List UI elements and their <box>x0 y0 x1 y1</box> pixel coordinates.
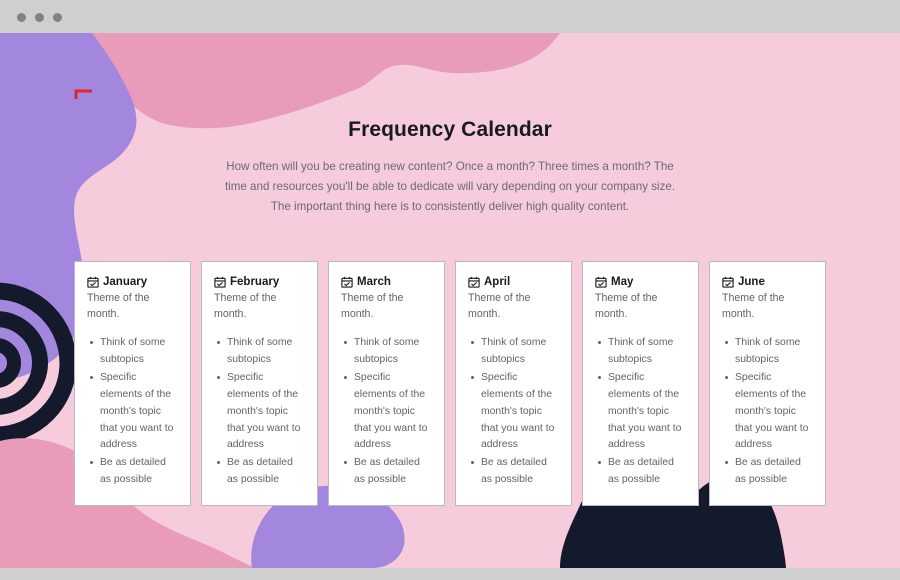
month-card-january[interactable]: January Theme of the month. Think of som… <box>74 261 191 506</box>
list-item: Think of some subtopics <box>468 335 559 369</box>
month-card-february[interactable]: February Theme of the month. Think of so… <box>201 261 318 506</box>
minimize-window-button[interactable] <box>35 13 44 22</box>
card-theme-text: Theme of the month. <box>722 291 813 322</box>
month-card-april[interactable]: April Theme of the month. Think of some … <box>455 261 572 506</box>
card-header: January <box>87 276 178 288</box>
month-card-june[interactable]: June Theme of the month. Think of some s… <box>709 261 826 506</box>
calendar-check-icon <box>214 276 226 288</box>
calendar-check-icon <box>468 276 480 288</box>
list-item: Specific elements of the month's topic t… <box>341 370 432 454</box>
card-bullet-list: Think of some subtopics Specific element… <box>341 335 432 489</box>
card-header: May <box>595 276 686 288</box>
list-item: Think of some subtopics <box>341 335 432 369</box>
list-item: Specific elements of the month's topic t… <box>214 370 305 454</box>
list-item: Be as detailed as possible <box>341 455 432 489</box>
month-card-march[interactable]: March Theme of the month. Think of some … <box>328 261 445 506</box>
list-item: Specific elements of the month's topic t… <box>468 370 559 454</box>
card-bullet-list: Think of some subtopics Specific element… <box>87 335 178 489</box>
card-bullet-list: Think of some subtopics Specific element… <box>595 335 686 489</box>
card-bullet-list: Think of some subtopics Specific element… <box>722 335 813 489</box>
calendar-check-icon <box>341 276 353 288</box>
list-item: Think of some subtopics <box>722 335 813 369</box>
calendar-check-icon <box>87 276 99 288</box>
card-theme-text: Theme of the month. <box>341 291 432 322</box>
page-title: Frequency Calendar <box>0 118 900 142</box>
slide-canvas: Frequency Calendar How often will you be… <box>0 33 900 568</box>
card-month-label: June <box>738 276 765 288</box>
card-header: June <box>722 276 813 288</box>
card-theme-text: Theme of the month. <box>595 291 686 322</box>
list-item: Think of some subtopics <box>214 335 305 369</box>
window-controls <box>17 13 62 22</box>
list-item: Think of some subtopics <box>595 335 686 369</box>
card-header: March <box>341 276 432 288</box>
list-item: Be as detailed as possible <box>722 455 813 489</box>
window-title-bar <box>0 0 900 33</box>
list-item: Be as detailed as possible <box>468 455 559 489</box>
card-header: February <box>214 276 305 288</box>
app-window: Frequency Calendar How often will you be… <box>0 0 900 580</box>
card-month-label: May <box>611 276 633 288</box>
card-month-label: January <box>103 276 147 288</box>
calendar-check-icon <box>595 276 607 288</box>
list-item: Be as detailed as possible <box>87 455 178 489</box>
card-theme-text: Theme of the month. <box>214 291 305 322</box>
list-item: Think of some subtopics <box>87 335 178 369</box>
calendar-check-icon <box>722 276 734 288</box>
month-card-row: January Theme of the month. Think of som… <box>74 261 826 506</box>
slide-content: Frequency Calendar How often will you be… <box>0 33 900 568</box>
list-item: Be as detailed as possible <box>595 455 686 489</box>
card-header: April <box>468 276 559 288</box>
month-card-may[interactable]: May Theme of the month. Think of some su… <box>582 261 699 506</box>
page-description: How often will you be creating new conte… <box>215 157 685 217</box>
maximize-window-button[interactable] <box>53 13 62 22</box>
card-month-label: April <box>484 276 510 288</box>
card-bullet-list: Think of some subtopics Specific element… <box>214 335 305 489</box>
list-item: Specific elements of the month's topic t… <box>722 370 813 454</box>
card-month-label: February <box>230 276 279 288</box>
list-item: Specific elements of the month's topic t… <box>87 370 178 454</box>
close-window-button[interactable] <box>17 13 26 22</box>
card-theme-text: Theme of the month. <box>468 291 559 322</box>
card-theme-text: Theme of the month. <box>87 291 178 322</box>
list-item: Specific elements of the month's topic t… <box>595 370 686 454</box>
card-month-label: March <box>357 276 391 288</box>
list-item: Be as detailed as possible <box>214 455 305 489</box>
card-bullet-list: Think of some subtopics Specific element… <box>468 335 559 489</box>
